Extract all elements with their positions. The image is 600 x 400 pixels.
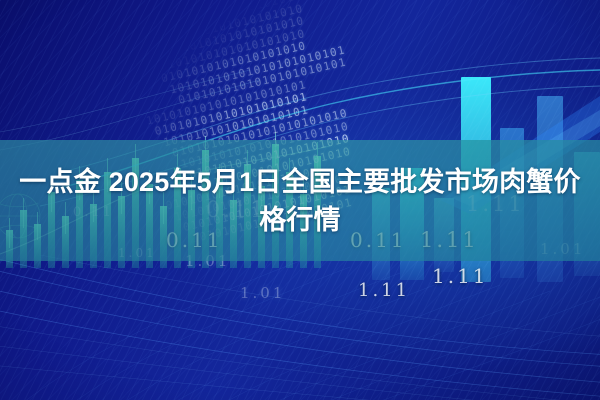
vignette-overlay bbox=[0, 0, 600, 400]
article-cover-banner: 0101010101010101010101010101010101010101… bbox=[0, 0, 600, 400]
